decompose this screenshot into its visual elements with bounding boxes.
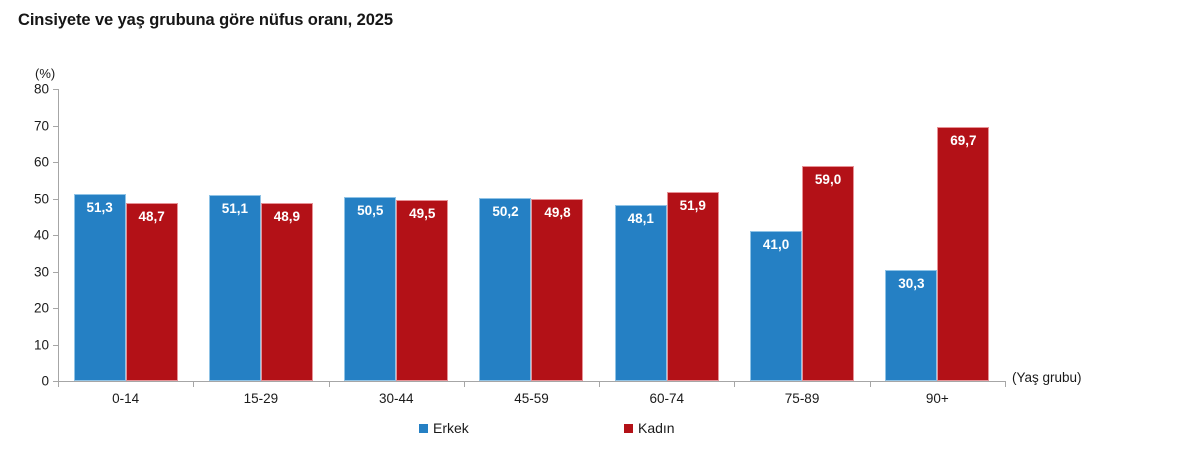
bar-value-label: 48,7: [127, 209, 177, 224]
y-axis-tick-label: 50: [34, 191, 49, 206]
bar-erkek-0-14[interactable]: 51,3: [74, 194, 126, 381]
y-axis-unit-label: (%): [35, 66, 55, 81]
x-axis-tick-mark: [734, 381, 735, 387]
x-axis-unit-label: (Yaş grubu): [1012, 370, 1082, 385]
bar-group: 50,249,8: [464, 89, 599, 381]
legend-label: Erkek: [433, 420, 469, 436]
plot-area: 51,348,70-1451,148,915-2950,549,530-4450…: [58, 89, 1005, 381]
x-axis-category-label-75-89: 75-89: [785, 391, 820, 406]
bar-value-label: 51,9: [668, 198, 718, 213]
bar-value-label: 51,3: [75, 200, 125, 215]
bar-kadn-60-74[interactable]: 51,9: [667, 192, 719, 381]
bar-erkek-30-44[interactable]: 50,5: [344, 197, 396, 381]
y-axis-tick-label: 40: [34, 228, 49, 243]
x-axis-tick-mark: [329, 381, 330, 387]
bar-value-label: 48,9: [262, 209, 312, 224]
legend-label: Kadın: [638, 420, 675, 436]
legend-swatch-icon: [419, 424, 428, 433]
y-axis-tick-label: 60: [34, 155, 49, 170]
bar-kadn-0-14[interactable]: 48,7: [126, 203, 178, 381]
page-title: Cinsiyete ve yaş grubuna göre nüfus oran…: [18, 11, 393, 30]
bar-group: 41,059,0: [734, 89, 869, 381]
y-axis-tick-label: 70: [34, 118, 49, 133]
bar-erkek-15-29[interactable]: 51,1: [209, 195, 261, 382]
bar-value-label: 49,8: [532, 205, 582, 220]
bar-erkek-90+[interactable]: 30,3: [885, 270, 937, 381]
x-axis-category-label-30-44: 30-44: [379, 391, 414, 406]
bar-value-label: 69,7: [938, 133, 988, 148]
bar-value-label: 51,1: [210, 201, 260, 216]
bar-group: 50,549,5: [329, 89, 464, 381]
bar-kadn-90+[interactable]: 69,7: [937, 127, 989, 381]
bar-kadn-15-29[interactable]: 48,9: [261, 203, 313, 381]
bar-erkek-45-59[interactable]: 50,2: [479, 198, 531, 381]
bar-group: 51,348,7: [58, 89, 193, 381]
x-axis-tick-mark: [193, 381, 194, 387]
bar-group: 51,148,9: [193, 89, 328, 381]
x-axis-category-label-0-14: 0-14: [112, 391, 139, 406]
bar-value-label: 41,0: [751, 237, 801, 252]
chart-legend: ErkekKadın: [0, 418, 1180, 442]
bar-value-label: 59,0: [803, 172, 853, 187]
x-axis-tick-mark: [1005, 381, 1006, 387]
bar-value-label: 50,5: [345, 203, 395, 218]
y-axis-tick-label: 20: [34, 301, 49, 316]
x-axis-tick-mark: [870, 381, 871, 387]
bar-erkek-60-74[interactable]: 48,1: [615, 205, 667, 381]
bar-value-label: 30,3: [886, 276, 936, 291]
bar-value-label: 50,2: [480, 204, 530, 219]
bar-group: 48,151,9: [599, 89, 734, 381]
x-axis-category-label-15-29: 15-29: [244, 391, 279, 406]
x-axis-tick-mark: [599, 381, 600, 387]
bar-value-label: 49,5: [397, 206, 447, 221]
bar-group: 30,369,7: [870, 89, 1005, 381]
bar-erkek-75-89[interactable]: 41,0: [750, 231, 802, 381]
x-axis-line: [58, 381, 1006, 382]
legend-item-kadn[interactable]: Kadın: [624, 418, 675, 438]
x-axis-tick-mark: [464, 381, 465, 387]
bar-kadn-30-44[interactable]: 49,5: [396, 200, 448, 381]
x-axis-category-label-90+: 90+: [926, 391, 949, 406]
bar-kadn-75-89[interactable]: 59,0: [802, 166, 854, 381]
x-axis-category-label-60-74: 60-74: [650, 391, 685, 406]
x-axis-tick-mark: [58, 381, 59, 387]
y-axis-tick-label: 30: [34, 264, 49, 279]
legend-item-erkek[interactable]: Erkek: [419, 418, 469, 438]
bar-value-label: 48,1: [616, 211, 666, 226]
y-axis-tick-label: 10: [34, 337, 49, 352]
y-axis-tick-label: 80: [34, 82, 49, 97]
bar-kadn-45-59[interactable]: 49,8: [531, 199, 583, 381]
x-axis-category-label-45-59: 45-59: [514, 391, 549, 406]
y-axis-tick-label: 0: [41, 374, 49, 389]
legend-swatch-icon: [624, 424, 633, 433]
